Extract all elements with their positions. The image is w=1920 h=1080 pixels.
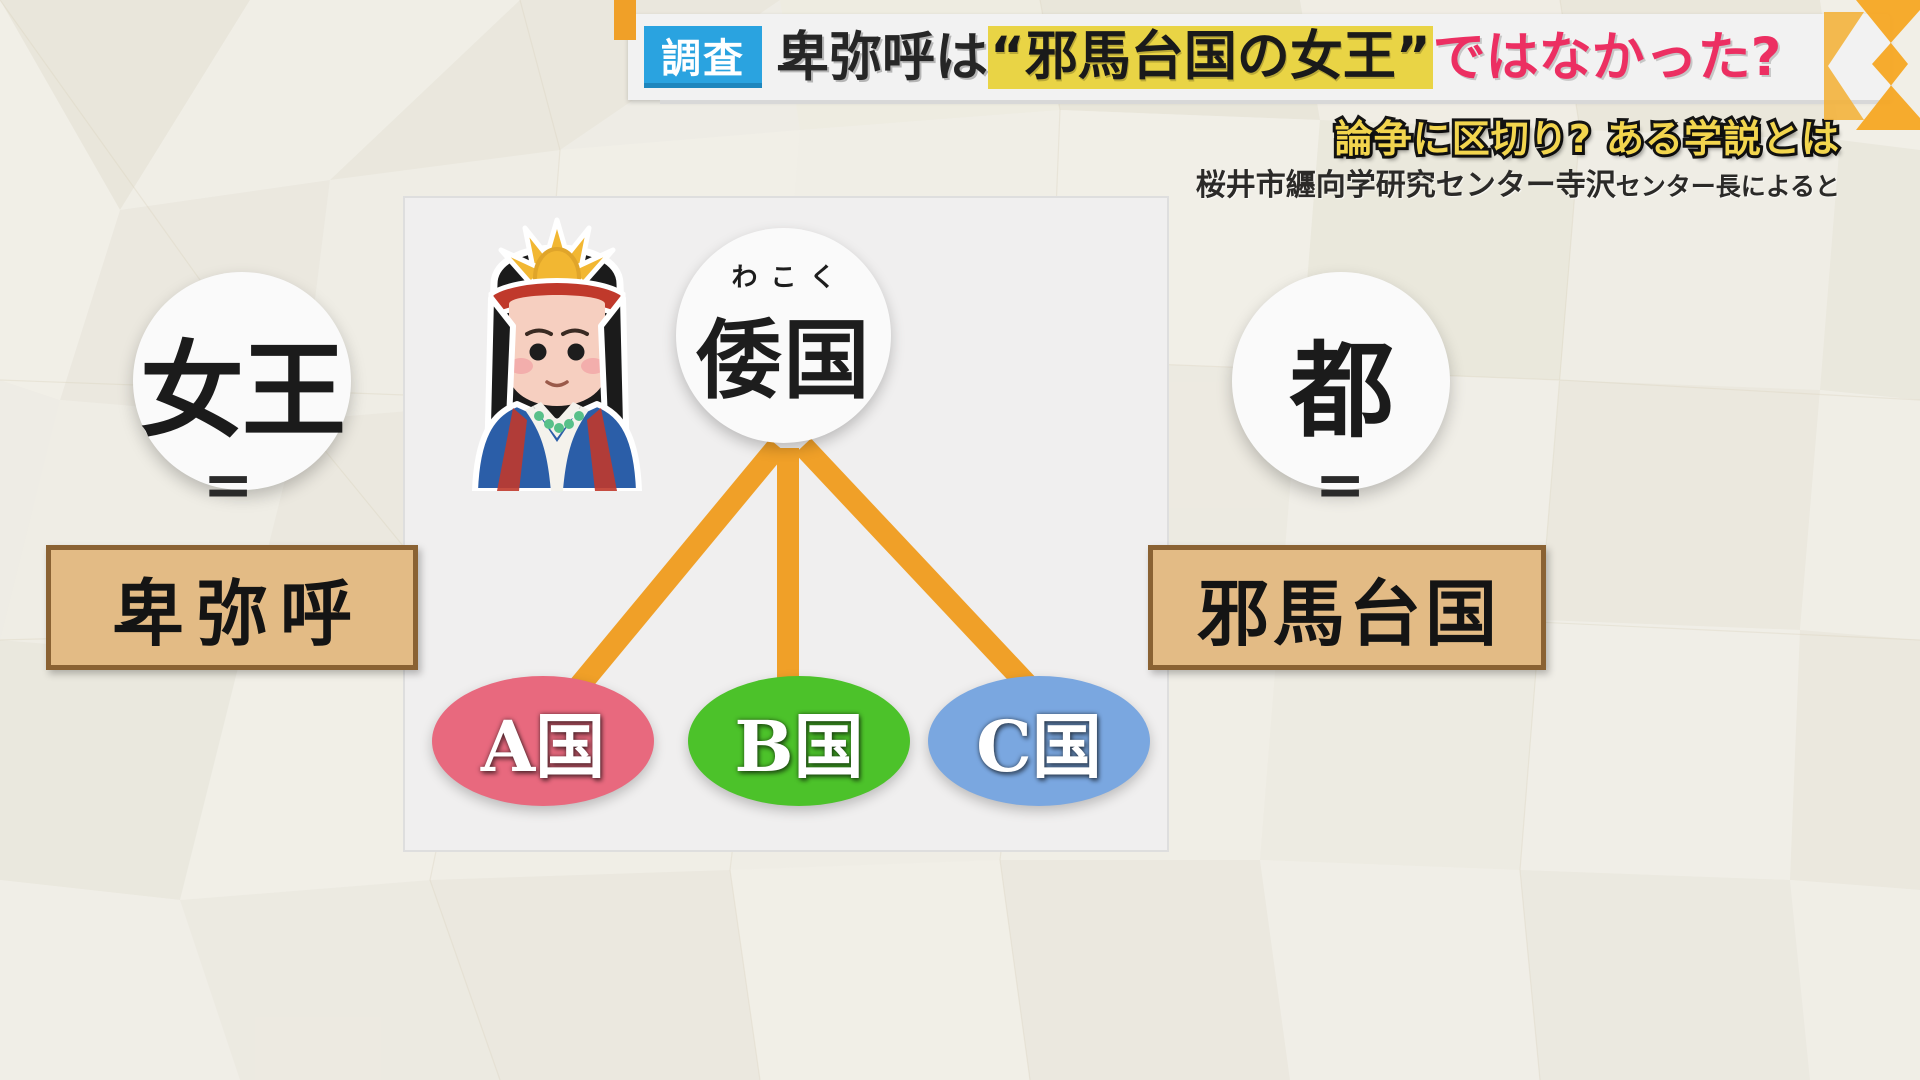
box-himiko[interactable]: 卑弥呼 [46, 545, 418, 670]
wakoku-label: 倭国 [696, 290, 872, 415]
queen-title-label: 女王 [140, 306, 344, 457]
orange-tab-decoration [614, 0, 636, 40]
node-wakoku[interactable]: わこく 倭国 [676, 228, 891, 443]
credit-small: センター長によると [1616, 172, 1840, 201]
capital-title-label: 都 [1290, 306, 1392, 457]
wakoku-furigana: わこく [731, 257, 848, 294]
headline-part2: ではなかった? [1433, 31, 1782, 84]
credit-line: 桜井市纒向学研究センター寺沢センター長によると [1196, 160, 1840, 204]
chevron-decoration-secondary-icon [1824, 12, 1870, 120]
equals-sign-left: = [203, 470, 253, 500]
node-country-a[interactable]: A国 [432, 676, 654, 806]
headline-part1: 卑弥呼は [776, 31, 988, 84]
credit-main: 桜井市纒向学研究センター寺沢 [1196, 168, 1616, 203]
country-a-label: A国 [481, 691, 605, 792]
headline-highlight: “邪馬台国の女王” [988, 26, 1433, 89]
box-yamataikoku[interactable]: 邪馬台国 [1148, 545, 1546, 670]
header: 調査 卑弥呼は “邪馬台国の女王” ではなかった? 論争に区切り? ある学説とは… [0, 0, 1920, 200]
node-country-b[interactable]: B国 [688, 676, 910, 806]
headline-underline [660, 100, 1890, 104]
node-country-c[interactable]: C国 [928, 676, 1150, 806]
subtitle: 論争に区切り? ある学説とは [1335, 108, 1840, 163]
equals-sign-right: = [1315, 470, 1365, 500]
country-b-label: B国 [734, 691, 863, 792]
headline-bar: 調査 卑弥呼は “邪馬台国の女王” ではなかった? [628, 14, 1890, 100]
himiko-label: 卑弥呼 [112, 555, 364, 660]
country-c-label: C国 [976, 691, 1102, 792]
survey-badge: 調査 [644, 26, 762, 88]
headline-text: 卑弥呼は “邪馬台国の女王” ではなかった? [776, 26, 1781, 89]
yamataikoku-label: 邪馬台国 [1197, 555, 1501, 660]
queen-himiko-illustration [447, 206, 667, 491]
